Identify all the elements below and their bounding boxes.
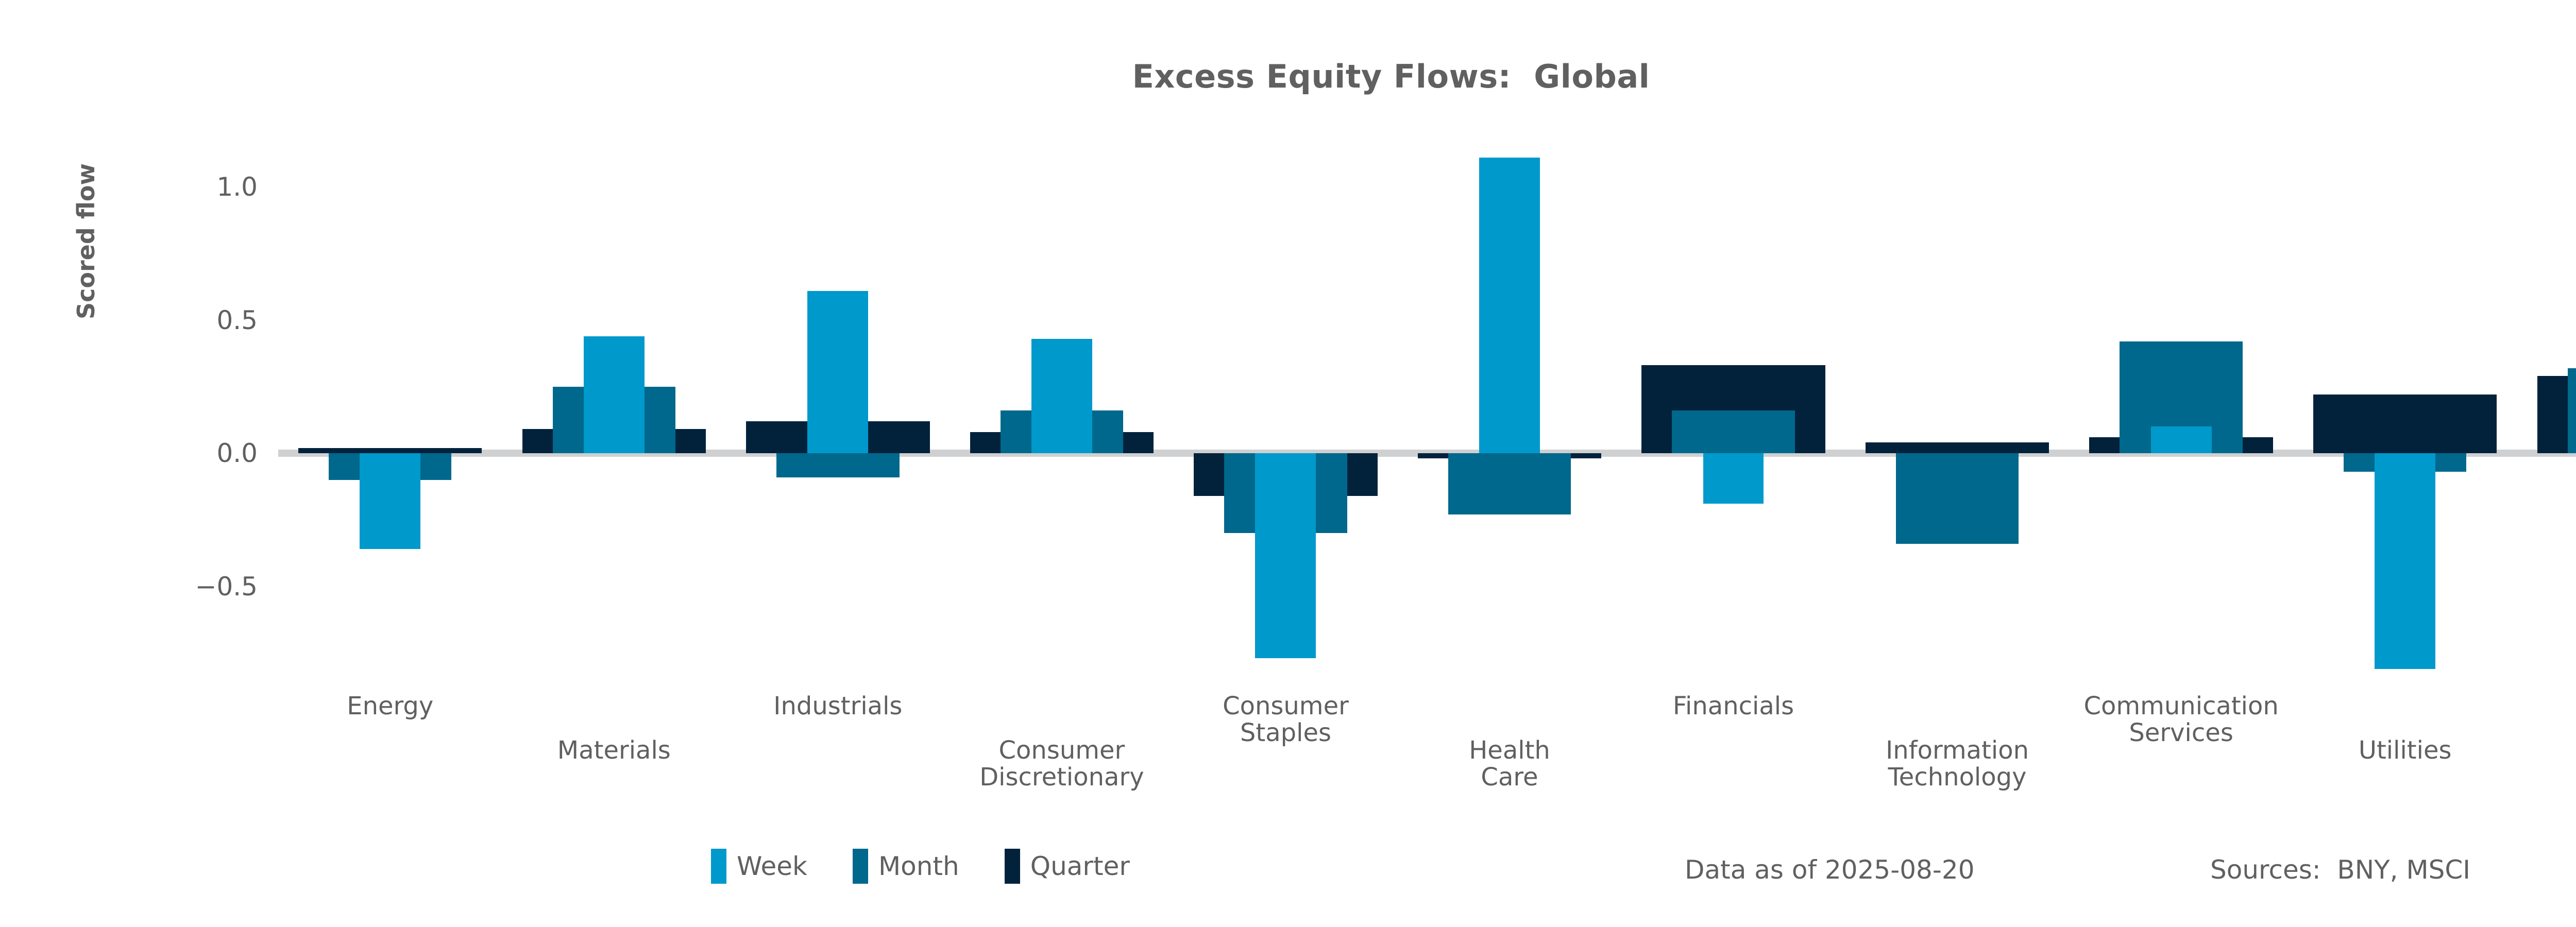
footnote-sources: Sources: BNY, MSCI [2210, 855, 2470, 885]
x-tick-label-2: Industrials [773, 693, 902, 720]
bar-week-8 [2151, 426, 2212, 453]
y-axis-label: Scored flow [72, 163, 100, 319]
footnote-data-as-of: Data as of 2025-08-20 [1685, 855, 1975, 885]
x-axis-ticks: EnergyMaterialsIndustrialsConsumer Discr… [278, 690, 2576, 845]
legend-item-month[interactable]: Month [853, 849, 959, 884]
bar-quarter-0 [298, 448, 482, 453]
bar-week-1 [584, 336, 645, 453]
legend-label: Quarter [1030, 851, 1130, 881]
bar-month-10 [2568, 368, 2576, 453]
bar-quarter-7 [1866, 442, 2049, 453]
legend-swatch-icon [1005, 849, 1020, 884]
bar-week-9 [2375, 453, 2435, 669]
bar-month-2 [776, 453, 899, 477]
x-tick-label-7: Information Technology [1886, 737, 2029, 791]
bar-week-4 [1255, 453, 1316, 658]
x-tick-label-5: Health Care [1469, 737, 1550, 791]
x-tick-label-3: Consumer Discretionary [979, 737, 1144, 791]
legend: WeekMonthQuarter [711, 849, 1130, 884]
bar-week-3 [1031, 339, 1092, 453]
legend-item-quarter[interactable]: Quarter [1005, 849, 1130, 884]
x-tick-label-6: Financials [1673, 693, 1794, 720]
y-tick-label: 0.0 [124, 438, 258, 468]
x-tick-label-0: Energy [347, 693, 433, 720]
bar-month-7 [1896, 453, 2019, 544]
legend-swatch-icon [853, 849, 868, 884]
bar-week-0 [360, 453, 420, 549]
bar-quarter-9 [2313, 394, 2497, 453]
plot-area [278, 144, 2576, 690]
legend-item-week[interactable]: Week [711, 849, 807, 884]
bar-week-2 [807, 291, 868, 453]
y-tick-label: −0.5 [124, 572, 258, 602]
y-tick-label: 0.5 [124, 305, 258, 335]
x-tick-label-8: Communication Services [2083, 693, 2278, 747]
bar-week-5 [1479, 158, 1540, 453]
legend-swatch-icon [711, 849, 726, 884]
bar-month-5 [1448, 453, 1571, 514]
legend-label: Month [878, 851, 959, 881]
y-axis-ticks: 1.00.50.0−0.5 [103, 0, 258, 927]
x-tick-label-1: Materials [557, 737, 671, 764]
x-tick-label-9: Utilities [2359, 737, 2452, 764]
bar-week-6 [1703, 453, 1764, 504]
chart-figure: Excess Equity Flows: Global Scored flow … [0, 0, 2576, 927]
y-tick-label: 1.0 [124, 172, 258, 202]
x-tick-label-4: Consumer Staples [1223, 693, 1349, 747]
legend-label: Week [737, 851, 807, 881]
page-title: Excess Equity Flows: Global [0, 58, 2576, 95]
bar-month-6 [1672, 410, 1794, 453]
